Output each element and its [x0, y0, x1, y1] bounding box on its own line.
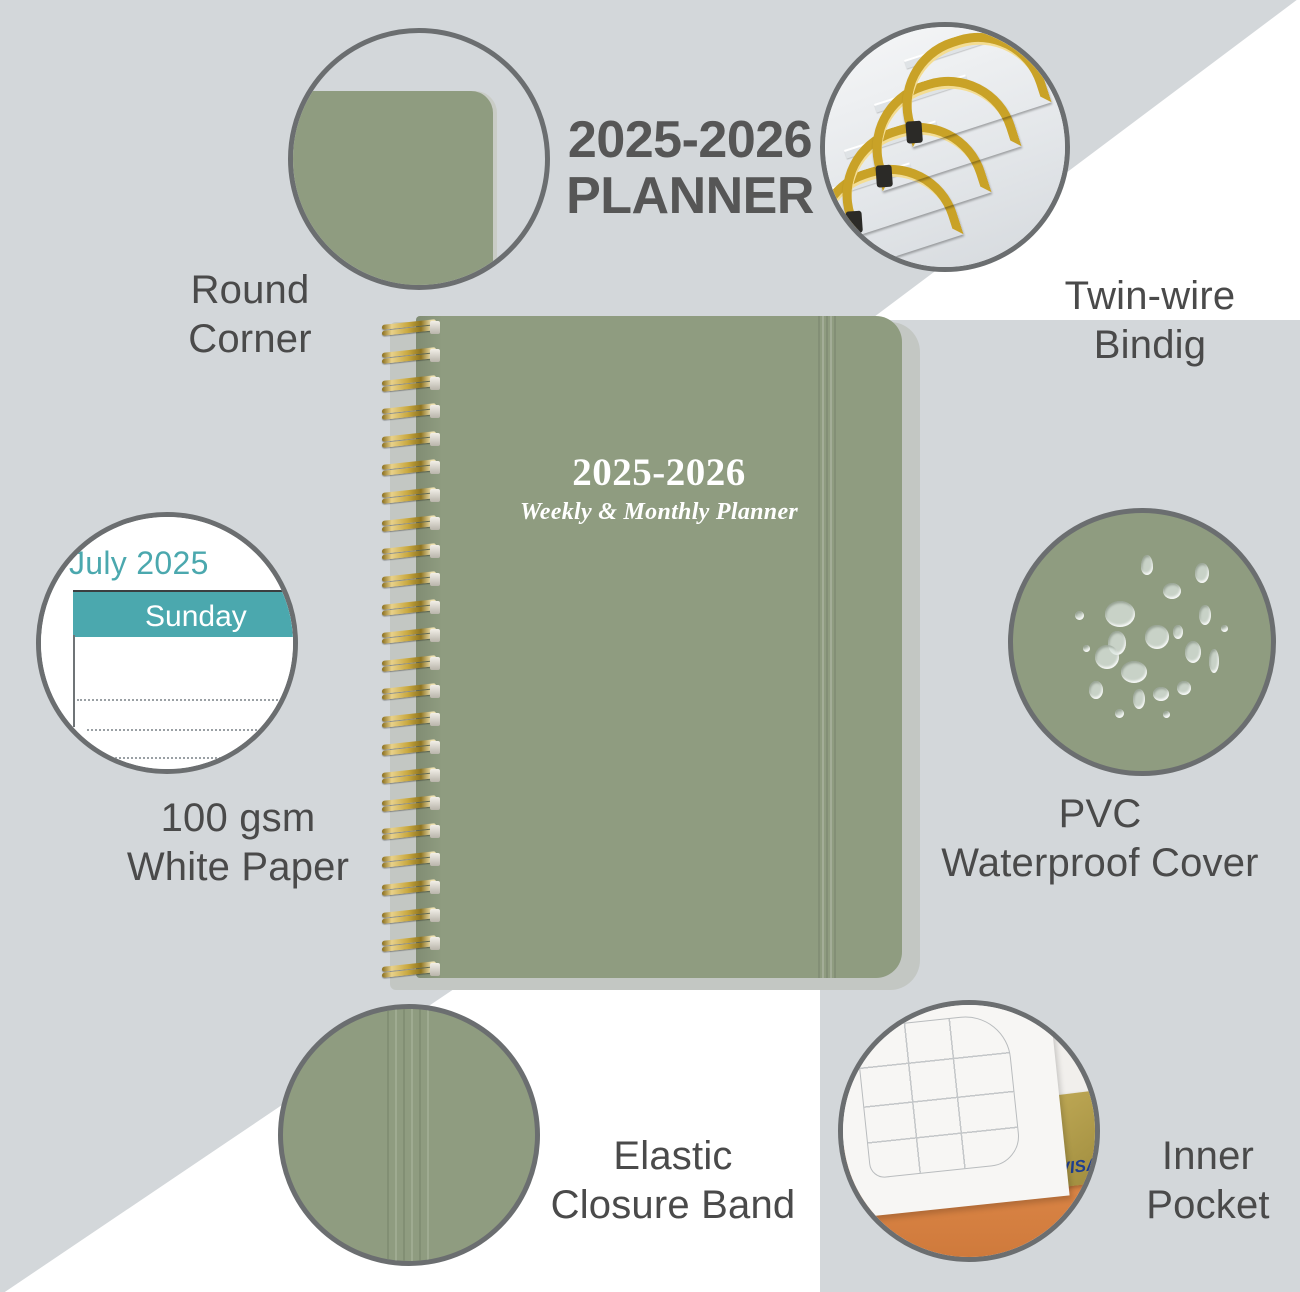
page-title: 2025-2026 PLANNER [560, 112, 820, 224]
feature-circle-inner-pocket: VISA [838, 1000, 1100, 1262]
water-droplet-icon [1185, 641, 1201, 663]
product-planner: 2025-2026 Weekly & Monthly Planner [378, 312, 916, 984]
water-droplet-icon [1163, 711, 1170, 718]
infographic-canvas: 2025-2026 PLANNER Round Corner Twin-wire… [0, 0, 1300, 1292]
paper-sample-month-label: July 2025 [69, 545, 209, 582]
water-droplet-icon [1105, 601, 1135, 627]
paper-sample-page: July 2025 Sunday [41, 517, 293, 769]
feature-label-elastic: Elastic Closure Band [508, 1132, 838, 1230]
feature-label-pvc: PVC Waterproof Cover [900, 790, 1300, 888]
feature-circle-twin-wire [820, 22, 1070, 272]
paper-sample-day-header: Sunday [73, 590, 298, 637]
elastic-band-line [411, 1009, 413, 1261]
feature-circle-elastic-band [278, 1004, 540, 1266]
paper-sample-day-label: Sunday [145, 600, 247, 634]
binding-ring-icon [884, 22, 1051, 147]
planner-twin-wire-spiral [378, 316, 442, 978]
feature-label-twin-wire: Twin-wire Bindig [1000, 272, 1300, 370]
paper-sample-divider [73, 635, 75, 727]
water-droplet-icon [1145, 625, 1169, 649]
feature-label-round-corner: Round Corner [110, 266, 390, 364]
feature-circle-pvc-waterproof [1008, 508, 1276, 776]
water-droplet-icon [1177, 681, 1191, 695]
water-droplet-icon [1153, 687, 1169, 701]
planner-map-page [838, 1000, 1070, 1219]
paper-sample-ruled-line [111, 757, 261, 759]
feature-circle-paper-sample: July 2025 Sunday [36, 512, 298, 774]
water-droplet-icon [1095, 645, 1119, 669]
paper-sample-ruled-line [77, 699, 298, 701]
water-droplet-icon [1163, 583, 1181, 599]
water-droplet-icon [1209, 649, 1219, 673]
water-droplet-icon [1121, 661, 1147, 683]
water-droplet-icon [1195, 563, 1209, 583]
water-droplet-icon [1115, 709, 1124, 718]
elastic-band-line [419, 1009, 421, 1261]
round-corner-swatch [288, 91, 493, 290]
water-droplet-icon [1133, 689, 1145, 709]
feature-label-inner-pocket: Inner Pocket [1098, 1132, 1300, 1230]
feature-circle-round-corner [288, 28, 550, 290]
feature-label-paper: 100 gsm White Paper [88, 794, 388, 892]
water-droplet-icon [1141, 555, 1153, 575]
water-droplet-icon [1173, 625, 1183, 639]
planner-elastic-closure-band [816, 316, 838, 978]
elastic-band-line [403, 1009, 405, 1261]
elastic-band-line [427, 1009, 429, 1261]
elastic-band-line [387, 1009, 389, 1261]
elastic-band-line [395, 1009, 397, 1261]
water-droplet-icon [1199, 605, 1211, 625]
paper-sample-ruled-line [87, 729, 297, 731]
water-droplet-icon [1089, 681, 1103, 699]
twin-wire-photo [825, 27, 1065, 267]
water-droplet-icon [1075, 611, 1084, 620]
water-droplet-icon [1221, 625, 1228, 632]
us-map-illustration [855, 1012, 1022, 1179]
water-droplet-icon [1083, 645, 1090, 652]
